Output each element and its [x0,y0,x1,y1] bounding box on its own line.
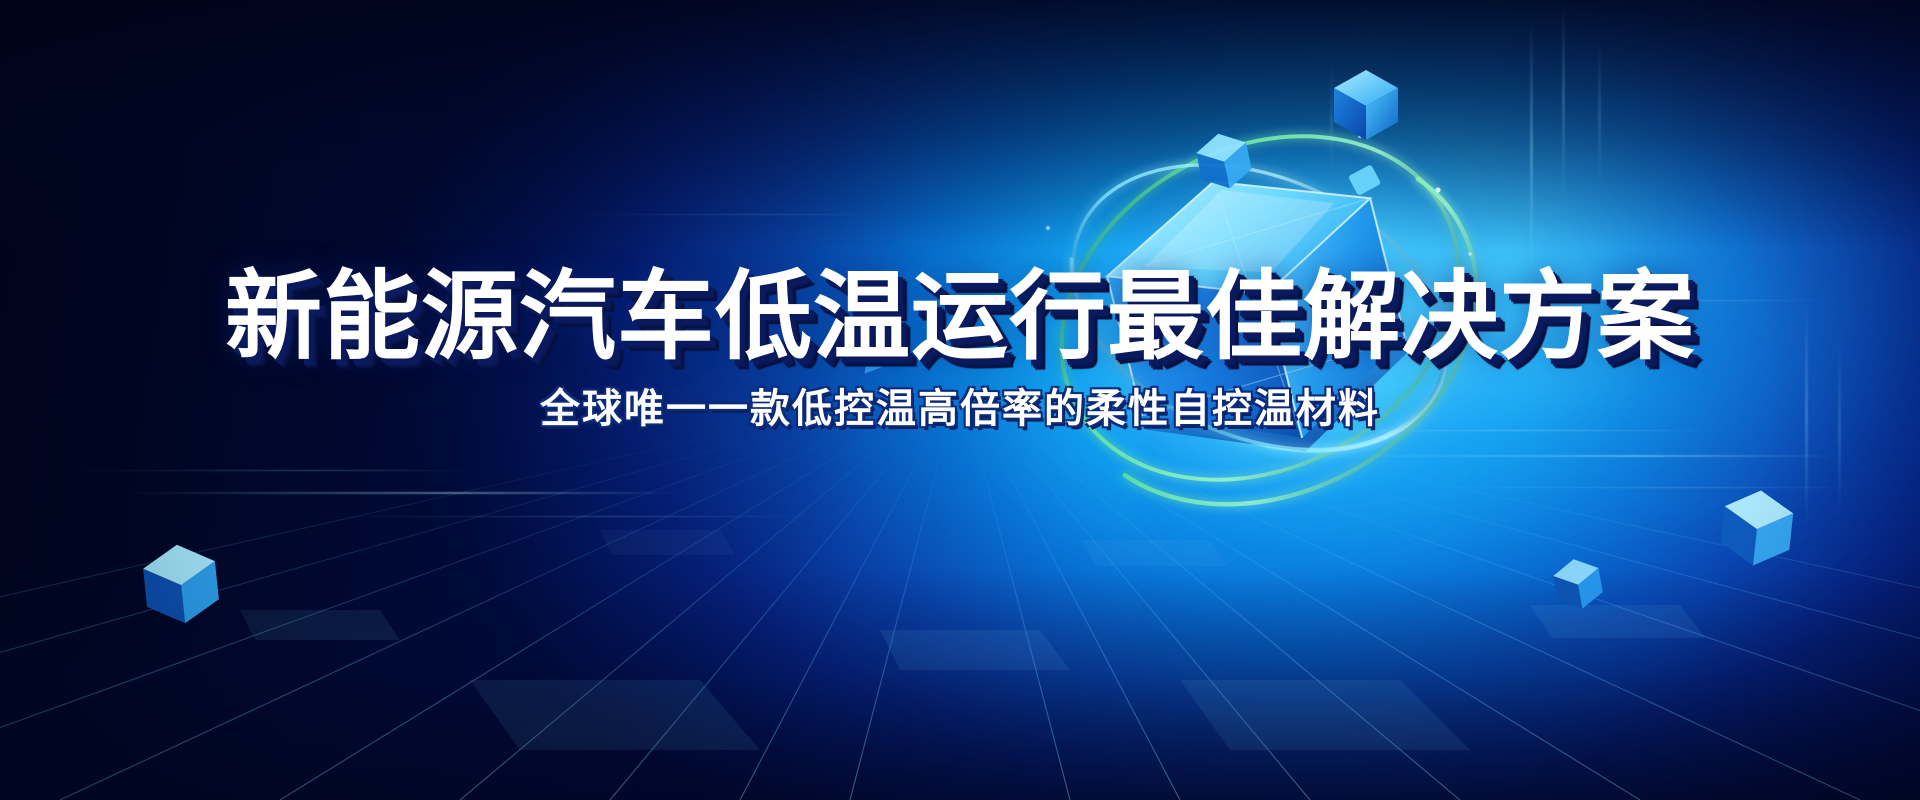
crystal-cube-graphic [940,40,1580,600]
floating-cube-small-right [1548,552,1609,616]
floating-cube-top-right [1330,66,1402,144]
hero-banner: 新能源汽车低温运行最佳解决方案 全球唯一一款低控温高倍率的柔性自控温材料 [0,0,1920,800]
floating-cube-mid-left [831,302,906,382]
floating-cube-lower-left [136,536,227,632]
floating-cube-upper-mid [1189,125,1259,198]
floating-cube-lower-right [1714,482,1800,574]
